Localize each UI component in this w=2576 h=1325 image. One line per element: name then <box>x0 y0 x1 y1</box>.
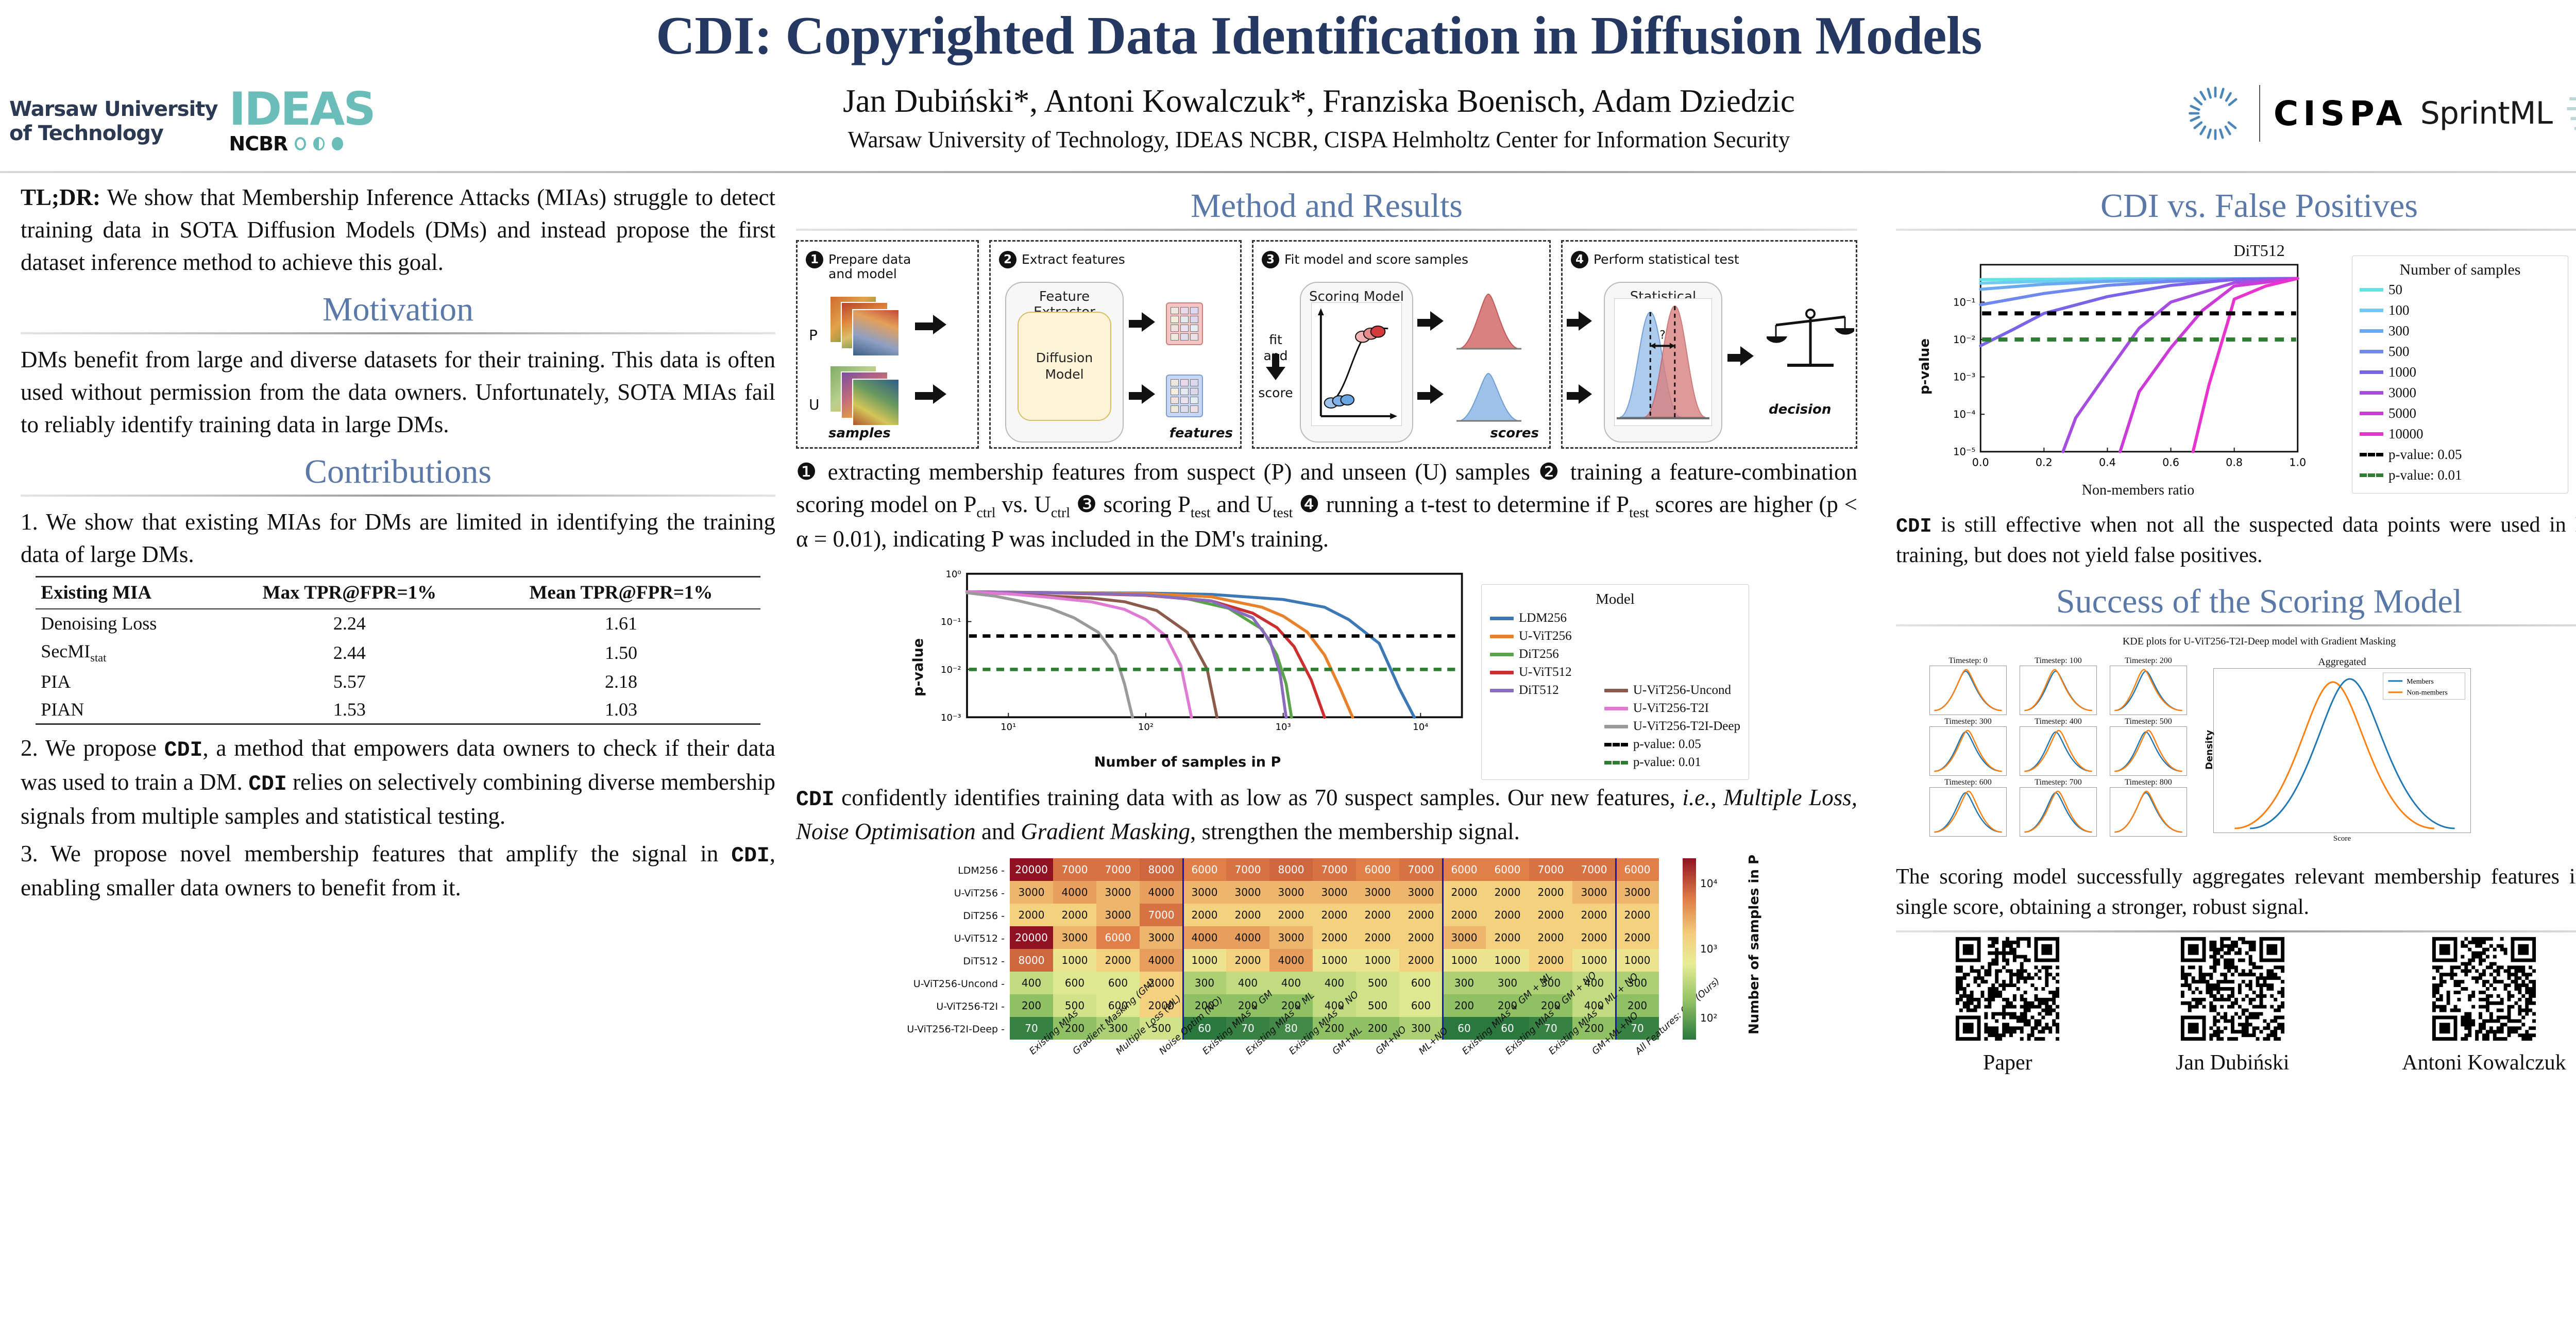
legend-item: DiT512 <box>1490 683 1595 698</box>
kde-panel-title: Timestep: 0 <box>1929 656 2007 666</box>
svg-text:10⁴: 10⁴ <box>1413 722 1428 733</box>
legend-swatch <box>2360 453 2383 456</box>
kde-panel: Timestep: 300 <box>1929 717 2007 776</box>
arrow-right-icon <box>1142 384 1155 404</box>
cell-mean-tpr: 1.50 <box>482 637 760 668</box>
step-number-4: 4 <box>1571 251 1588 268</box>
column-right: CDI vs. False Positives DiT512 p-value N… <box>1896 181 2576 1103</box>
results-caption: CDI confidently identifies training data… <box>796 782 1857 848</box>
legend-label: DiT256 <box>1519 647 1559 661</box>
legend-swatch <box>2360 288 2383 292</box>
section-title-scoring-model: Success of the Scoring Model <box>1896 582 2576 621</box>
heatmap-cell: 300 <box>1443 972 1486 994</box>
heatmap-cell: 2000 <box>1529 881 1572 904</box>
heatmap-cell: 2000 <box>1486 904 1529 926</box>
diffusion-model-card: DiffusionModel <box>1018 312 1111 421</box>
heatmap-cell: 6000 <box>1486 858 1529 881</box>
heatmap-cell: 4000 <box>1183 926 1226 949</box>
heatmap-cell: 2000 <box>1010 904 1053 926</box>
qr-code-item[interactable]: Paper <box>1952 933 2063 1075</box>
heatmap-row-label: U-ViT512 - <box>954 933 1005 944</box>
legend-label: LDM256 <box>1519 611 1567 625</box>
heatmap-cell: 400 <box>1226 972 1269 994</box>
column-left: TL;DR: We show that Membership Inference… <box>21 181 775 915</box>
svg-text:0.6: 0.6 <box>2162 456 2179 468</box>
legend-item: U-ViT256-Uncond <box>1604 683 1740 698</box>
heatmap-cell: 3000 <box>1010 881 1053 904</box>
legend-label: U-ViT256 <box>1519 629 1572 643</box>
legend-item: U-ViT512 <box>1490 665 1595 680</box>
dit512-chart-ylabel: p-value <box>1917 338 1933 395</box>
kde-panel-title: Timestep: 400 <box>2020 717 2097 726</box>
legend-label: 300 <box>2388 323 2410 339</box>
legend-label: p-value: 0.05 <box>1633 737 1701 752</box>
heatmap-cell: 1000 <box>1053 949 1096 972</box>
section-title-contributions: Contributions <box>21 452 775 491</box>
heatmap-cell: 2000 <box>1356 904 1399 926</box>
header-divider <box>0 171 2576 173</box>
cell-method: Denoising Loss <box>36 609 217 637</box>
heatmap-group-separator <box>1442 858 1444 1040</box>
legend-swatch <box>2360 412 2383 415</box>
svg-text:10⁻¹: 10⁻¹ <box>941 617 961 627</box>
heatmap-row-label: DiT512 - <box>963 956 1005 967</box>
qr-code-label: Jan Dubiński <box>2176 1050 2290 1075</box>
heatmap-cell: 2000 <box>1616 904 1659 926</box>
heatmap-cell: 2000 <box>1096 949 1140 972</box>
scoring-model-caption: The scoring model successfully aggregate… <box>1896 862 2576 923</box>
heatmap-cell: 2000 <box>1486 881 1529 904</box>
kde-panel: Timestep: 700 <box>2020 778 2097 837</box>
legend-swatch <box>2360 391 2383 395</box>
heatmap-cell: 3000 <box>1443 926 1486 949</box>
cell-mean-tpr: 1.03 <box>482 695 760 724</box>
svg-text:10⁻³: 10⁻³ <box>941 712 961 723</box>
legend-title: Model <box>1490 591 1740 608</box>
kde-grid-title: KDE plots for U-ViT256-T2I-Deep model wi… <box>1914 636 2576 648</box>
svg-text:10⁻²: 10⁻² <box>941 665 961 675</box>
cell-mean-tpr: 1.61 <box>482 609 760 637</box>
heatmap-cell: 3000 <box>1356 881 1399 904</box>
section-divider <box>21 332 775 334</box>
heatmap-cell: 6000 <box>1443 858 1486 881</box>
legend-item: 300 <box>2360 323 2561 339</box>
section-divider <box>796 229 1857 231</box>
heatmap-cell: 2000 <box>1572 926 1616 949</box>
kde-panel-title: Timestep: 600 <box>1929 778 2007 787</box>
kde-panel: Timestep: 200 <box>2110 656 2187 715</box>
legend-label: 50 <box>2388 282 2402 298</box>
legend-swatch <box>1490 689 1514 692</box>
heatmap-cell: 2000 <box>1313 926 1356 949</box>
heatmap-cell: 7000 <box>1399 858 1443 881</box>
kde-panel-plot <box>2110 666 2187 715</box>
arrow-right-icon <box>1142 312 1155 332</box>
runner-icon <box>2566 82 2576 144</box>
scoring-scatter-plot <box>1311 302 1402 426</box>
arrow-right-icon <box>933 315 946 334</box>
heatmap-cell: 2000 <box>1269 904 1313 926</box>
legend-item: U-ViT256-T2I-Deep <box>1604 719 1740 734</box>
heatmap-cell: 3000 <box>1269 926 1313 949</box>
caption-sub-ctrl-1: ctrl <box>976 505 995 521</box>
heatmap-row-label: U-ViT256 - <box>954 888 1005 899</box>
arrow-right-icon <box>1430 384 1444 404</box>
svg-text:0.4: 0.4 <box>2099 456 2116 468</box>
legend-label: U-ViT256-T2I-Deep <box>1633 719 1740 734</box>
heatmap-cell: 300 <box>1183 972 1226 994</box>
legend-label: 5000 <box>2388 405 2416 421</box>
heatmap-cell: 1000 <box>1183 949 1226 972</box>
legend-label: p-value: 0.01 <box>2388 467 2462 483</box>
unseen-samples-thumbnails <box>829 365 907 432</box>
legend-swatch <box>2360 432 2383 436</box>
heatmap-cell: 2000 <box>1183 904 1226 926</box>
legend-swatch <box>1604 707 1628 710</box>
heatmap-cell: 200 <box>1010 994 1053 1017</box>
table-row: SecMIstat2.441.50 <box>36 637 760 668</box>
heatmap-row-label: U-ViT256-T2I - <box>936 1001 1005 1012</box>
heatmap-cell: 3000 <box>1572 881 1616 904</box>
svg-text:0.0: 0.0 <box>1972 456 1989 468</box>
step-number-2: 2 <box>999 251 1016 268</box>
legend-label: 10000 <box>2388 426 2424 442</box>
existing-mia-table: Existing MIA Max TPR@FPR=1% Mean TPR@FPR… <box>36 576 760 725</box>
heatmap-row-label: U-ViT256-T2I-Deep - <box>907 1024 1005 1035</box>
heatmap-cell: 7000 <box>1053 858 1096 881</box>
legend-label: 100 <box>2388 302 2410 318</box>
legend-item: p-value: 0.05 <box>2360 447 2561 463</box>
heatmap-cell: 2000 <box>1053 904 1096 926</box>
legend-item: p-value: 0.01 <box>1604 755 1740 770</box>
heatmap-cell: 6000 <box>1096 926 1140 949</box>
results-text-e: , strengthen the membership signal. <box>1190 819 1520 844</box>
caption-sub-test-2: test <box>1273 505 1293 521</box>
heatmap-cell: 400 <box>1269 972 1313 994</box>
heatmap-cell: 400 <box>1010 972 1053 994</box>
contribution-1: 1. We show that existing MIAs for DMs ar… <box>21 506 775 571</box>
table-row: PIA5.572.18 <box>36 668 760 695</box>
kde-panel-title: Timestep: 300 <box>1929 717 2007 726</box>
qr-code-item[interactable]: Antoni Kowalczuk <box>2402 933 2566 1075</box>
legend-label: 500 <box>2388 344 2410 360</box>
cell-max-tpr: 1.53 <box>217 695 482 724</box>
score-distribution-nonmembers <box>1455 368 1522 425</box>
kde-aggregated-ylabel: Density <box>2204 730 2215 770</box>
fp-caption-text: is still effective when not all the susp… <box>1896 513 2576 567</box>
heatmap-cell: 7000 <box>1226 858 1269 881</box>
legend-label: p-value: 0.05 <box>2388 447 2462 463</box>
qr-code-item[interactable]: Jan Dubiński <box>2176 933 2290 1075</box>
qr-code-label: Paper <box>1983 1050 2032 1075</box>
svg-text:10⁻⁴: 10⁻⁴ <box>1953 409 1975 420</box>
legend-swatch <box>1604 689 1628 692</box>
colorbar-axis-label: Number of samples in P <box>1747 855 1762 1034</box>
caption-sub-ctrl-2: ctrl <box>1051 505 1070 521</box>
kde-panel-plot <box>2020 787 2097 837</box>
caption-step2b: vs. U <box>996 491 1051 517</box>
heatmap-cell: 400 <box>1313 972 1356 994</box>
kde-panel-plot <box>2110 726 2187 776</box>
features-grid-unseen <box>1166 375 1203 417</box>
heatmap-cell: 7000 <box>1096 858 1140 881</box>
qr-code-label: Antoni Kowalczuk <box>2402 1050 2566 1075</box>
results-text-d: and <box>976 819 1021 844</box>
features-grid-suspect <box>1166 302 1203 345</box>
heatmap-cell: 600 <box>1096 972 1140 994</box>
results-italic-gm: Gradient Masking <box>1021 819 1190 844</box>
overlapping-distributions-plot: ? <box>1614 298 1712 426</box>
kde-aggregated-panel: AggregatedMembersNon-membersScore <box>2213 656 2471 843</box>
label-suspect-p: P <box>809 327 818 344</box>
heatmap-group-separator <box>1182 858 1184 1040</box>
legend-label: U-ViT256-Uncond <box>1633 683 1731 698</box>
heatmap-cell: 8000 <box>1140 858 1183 881</box>
caption-decision: decision <box>1769 402 1831 417</box>
caption-sub-test-1: test <box>1191 505 1211 521</box>
legend-item: p-value: 0.01 <box>2360 467 2561 483</box>
arrow-right-icon <box>1579 384 1592 404</box>
kde-panel-plot <box>1929 726 2007 776</box>
kde-panel-plot <box>2020 666 2097 715</box>
contrib3-text-a: 3. We propose novel membership features … <box>21 841 731 867</box>
heatmap-cell: 2000 <box>1486 926 1529 949</box>
cell-mean-tpr: 2.18 <box>482 668 760 695</box>
cell-max-tpr: 2.24 <box>217 609 482 637</box>
kde-panel: Timestep: 600 <box>1929 778 2007 837</box>
heatmap-cell: 8000 <box>1010 949 1053 972</box>
qr-code-image[interactable] <box>1952 933 2063 1044</box>
legend-swatch <box>2360 370 2383 374</box>
legend-label: U-ViT256-T2I <box>1633 701 1709 716</box>
arrow-right-icon <box>1740 346 1754 366</box>
heatmap-cell: 1000 <box>1313 949 1356 972</box>
kde-panel-plot <box>2020 726 2097 776</box>
caption-sub-test-3: test <box>1629 505 1649 521</box>
heatmap-cell: 2000 <box>1399 926 1443 949</box>
legend-swatch <box>2360 350 2383 353</box>
heatmap-cell: 1000 <box>1443 949 1486 972</box>
cispa-c-mark-icon <box>2185 83 2246 144</box>
heatmap-cell: 500 <box>1356 972 1399 994</box>
heatmap-cell: 20000 <box>1010 926 1053 949</box>
caption-step1: ❶ extracting membership features from su… <box>796 459 1538 485</box>
heatmap-cell: 600 <box>1399 994 1443 1017</box>
method-pipeline-diagram: 1 Prepare dataand model P U <box>796 240 1857 449</box>
heatmap-cell: 6000 <box>1616 858 1659 881</box>
kde-panel: Timestep: 500 <box>2110 717 2187 776</box>
qr-section-divider <box>1896 930 2576 932</box>
legend-label: p-value: 0.01 <box>1633 755 1701 770</box>
legend-swatch <box>2360 473 2383 477</box>
heatmap-cell: 3000 <box>1096 904 1140 926</box>
logo-divider <box>2259 85 2260 142</box>
heatmap-cell: 20000 <box>1010 858 1053 881</box>
results-italic-ie: i.e. <box>1682 785 1710 810</box>
pipeline-step-1: 1 Prepare dataand model P U <box>796 240 979 449</box>
suspect-samples-thumbnails <box>829 296 907 363</box>
svg-text:10⁻¹: 10⁻¹ <box>1953 296 1975 308</box>
kde-panel: Timestep: 0 <box>1929 656 2007 715</box>
legend-item: 50 <box>2360 282 2561 298</box>
column-middle: Method and Results 1 Prepare dataand mod… <box>796 181 1857 1143</box>
min-samples-heatmap: LDM256 -20000700070008000600070008000700… <box>855 854 1798 1143</box>
kde-aggregated-plot: MembersNon-members <box>2213 668 2471 833</box>
heatmap-cell: 3000 <box>1616 881 1659 904</box>
caption-step3b: and U <box>1211 491 1273 517</box>
heatmap-cell: 600 <box>1053 972 1096 994</box>
section-title-motivation: Motivation <box>21 290 775 329</box>
kde-panel: Timestep: 400 <box>2020 717 2097 776</box>
caption-step4a: ❹ running a t-test to determine if P <box>1293 491 1629 517</box>
heatmap-cell: 6000 <box>1356 858 1399 881</box>
balance-scale-icon <box>1767 302 1854 390</box>
kde-panel: Timestep: 800 <box>2110 778 2187 837</box>
legend-swatch <box>1604 761 1628 765</box>
svg-text:10¹: 10¹ <box>1001 722 1016 733</box>
arrow-down-icon <box>1266 367 1285 380</box>
caption-step3a: ❸ scoring P <box>1070 491 1191 517</box>
heatmap-cell: 2000 <box>1529 904 1572 926</box>
step-label-4: Perform statistical test <box>1594 251 1739 267</box>
heatmap-cell: 200 <box>1616 994 1659 1017</box>
kde-panel-title: Timestep: 700 <box>2020 778 2097 787</box>
kde-aggregated-xlabel: Score <box>2213 835 2471 843</box>
step-label-3: Fit model and score samples <box>1284 251 1468 267</box>
svg-text:Non-members: Non-members <box>2406 689 2448 697</box>
legend-swatch <box>2360 309 2383 312</box>
step-number-3: 3 <box>1262 251 1279 268</box>
heatmap-cell: 4000 <box>1053 881 1096 904</box>
cell-method: SecMIstat <box>36 637 217 668</box>
legend-label: 1000 <box>2388 364 2416 380</box>
heatmap-cell: 7000 <box>1313 858 1356 881</box>
dit512-chart-plot-area: 10⁻¹10⁻²10⁻³10⁻⁴10⁻⁵0.00.20.40.60.81.0 <box>1936 258 2343 481</box>
contribution-2: 2. We propose CDI, a method that empower… <box>21 732 775 833</box>
legend-item: 500 <box>2360 344 2561 360</box>
heatmap-cell: 4000 <box>1226 926 1269 949</box>
pipeline-step-2: 2 Extract features Feature Extractor Dif… <box>989 240 1242 449</box>
contrib2-code-cdi-1: CDI <box>164 739 203 762</box>
legend-item: p-value: 0.05 <box>1604 737 1740 752</box>
pvalue-chart-legend: ModelLDM256U-ViT256DiT256U-ViT512DiT512U… <box>1481 584 1749 780</box>
pipeline-step-4: 4 Perform statistical test Statistical T… <box>1561 240 1857 449</box>
svg-text:10⁻²: 10⁻² <box>1953 334 1975 346</box>
heatmap-row-label: U-ViT256-Uncond - <box>913 978 1005 990</box>
heatmap-group-separator <box>1615 858 1617 1040</box>
heatmap-row-label: LDM256 - <box>958 865 1005 876</box>
heatmap-cell: 4000 <box>1140 881 1183 904</box>
colorbar-tick-label: 10³ <box>1700 943 1717 955</box>
heatmap-cell: 2000 <box>1529 926 1572 949</box>
heatmap-cell: 2000 <box>1443 904 1486 926</box>
heatmap-cell: 3000 <box>1183 881 1226 904</box>
kde-panel-plot <box>2110 787 2187 837</box>
legend-item: 5000 <box>2360 405 2561 421</box>
table-header-mean-tpr: Mean TPR@FPR=1% <box>482 577 760 608</box>
label-unseen-u: U <box>809 396 820 413</box>
sprintml-wordmark: SprintML <box>2420 95 2552 131</box>
tldr-text: We show that Membership Inference Attack… <box>21 184 775 275</box>
heatmap-cell: 1000 <box>1486 949 1529 972</box>
heatmap-cell: 600 <box>1399 972 1443 994</box>
heatmap-cell: 2000 <box>1529 949 1572 972</box>
table-row: Denoising Loss2.241.61 <box>36 609 760 637</box>
contrib3-code-cdi: CDI <box>731 844 770 868</box>
svg-text:10²: 10² <box>1138 722 1154 733</box>
legend-swatch <box>1490 671 1514 674</box>
pvalue-chart-xlabel: Number of samples in P <box>930 754 1445 770</box>
poster-header: Warsaw University of Technology IDEAS NC… <box>0 0 2576 178</box>
tldr-paragraph: TL;DR: We show that Membership Inference… <box>21 181 775 279</box>
heatmap-cell: 1000 <box>1572 949 1616 972</box>
heatmap-cell: 7000 <box>1529 858 1572 881</box>
heatmap-cell: 3000 <box>1269 881 1313 904</box>
heatmap-cell: 3000 <box>1140 926 1183 949</box>
step-label-1: Prepare dataand model <box>828 251 911 281</box>
page-title: CDI: Copyrighted Data Identification in … <box>0 4 2576 66</box>
results-text-b: confidently identifies training data wit… <box>835 785 1683 810</box>
heatmap-colorbar <box>1683 858 1696 1040</box>
legend-item: DiT256 <box>1490 647 1595 661</box>
heatmap-cell: 2000 <box>1399 949 1443 972</box>
kde-panel: Timestep: 100 <box>2020 656 2097 715</box>
fp-code-cdi: CDI <box>1896 515 1932 538</box>
arrow-right-icon <box>933 384 946 404</box>
kde-panel-title: Timestep: 100 <box>2020 656 2097 666</box>
heatmap-cell: 4000 <box>1140 949 1183 972</box>
colorbar-tick-label: 10² <box>1700 1012 1717 1024</box>
legend-label: U-ViT512 <box>1519 665 1572 680</box>
svg-text:10³: 10³ <box>1276 722 1291 733</box>
step-number-1: 1 <box>806 251 823 268</box>
logo-group-right: CISPA SprintML <box>2185 82 2576 144</box>
kde-panel-title: Timestep: 200 <box>2110 656 2187 666</box>
dit512-chart-legend: Number of samples50100300500100030005000… <box>2352 256 2568 494</box>
heatmap-cell: 2000 <box>1313 904 1356 926</box>
cell-method: PIA <box>36 668 217 695</box>
contrib2-code-cdi-2: CDI <box>248 773 287 796</box>
heatmap-cell: 4000 <box>1269 949 1313 972</box>
tldr-label: TL;DR: <box>21 184 100 210</box>
contrib2-text-a: 2. We propose <box>21 735 164 761</box>
arrow-right-icon <box>1579 311 1592 331</box>
legend-swatch <box>2360 329 2383 333</box>
section-divider <box>1896 229 2576 231</box>
svg-text:0.2: 0.2 <box>2036 456 2053 468</box>
cell-max-tpr: 2.44 <box>217 637 482 668</box>
table-row: PIAN1.531.03 <box>36 695 760 724</box>
legend-label: DiT512 <box>1519 683 1559 698</box>
heatmap-cell: 2000 <box>1616 926 1659 949</box>
legend-item: 1000 <box>2360 364 2561 380</box>
pvalue-chart-plot-area: 10⁰10⁻¹10⁻²10⁻³10¹10²10³10⁴ <box>930 565 1486 745</box>
legend-label: 3000 <box>2388 385 2416 401</box>
qr-code-image[interactable] <box>2177 933 2288 1044</box>
qr-code-image[interactable] <box>2429 933 2539 1044</box>
method-caption: ❶ extracting membership features from su… <box>796 456 1857 555</box>
svg-text:0.8: 0.8 <box>2226 456 2243 468</box>
heatmap-cell: 3000 <box>1226 881 1269 904</box>
caption-samples: samples <box>828 426 891 441</box>
heatmap-cell: 1000 <box>1356 949 1399 972</box>
legend-item: LDM256 <box>1490 611 1595 625</box>
heatmap-row-label: DiT256 - <box>963 910 1005 922</box>
svg-text:10⁻³: 10⁻³ <box>1953 371 1975 383</box>
cispa-wordmark: CISPA <box>2274 94 2407 133</box>
kde-aggregated-title: Aggregated <box>2213 656 2471 668</box>
score-distribution-members <box>1455 291 1522 353</box>
